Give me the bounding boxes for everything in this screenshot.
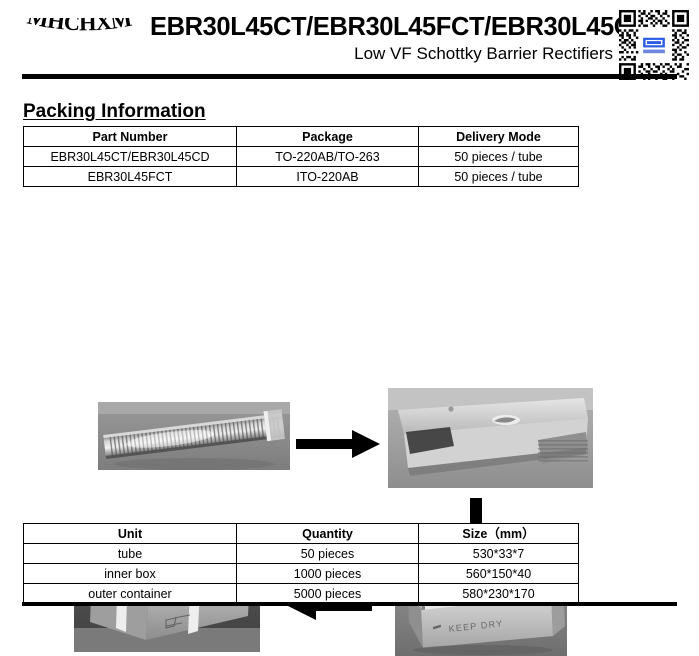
photo-tube-of-rectifiers: [98, 402, 290, 470]
logo-text: MHCHXM: [25, 18, 133, 35]
packing-information-table: Part Number Package Delivery Mode EBR30L…: [23, 126, 579, 187]
page-subtitle: Low VF Schottky Barrier Rectifiers: [150, 42, 615, 66]
cell-delivery-mode: 50 pieces / tube: [419, 147, 579, 167]
column-header-delivery-mode: Delivery Mode: [419, 127, 579, 147]
header-divider: [22, 74, 677, 79]
column-header-package: Package: [237, 127, 419, 147]
qr-center-logo: [643, 38, 665, 53]
cell-package: ITO-220AB: [237, 167, 419, 187]
company-logo: MHCHXM: [22, 18, 147, 62]
title-block: EBR30L45CT/EBR30L45FCT/EBR30L45CD Low VF…: [150, 12, 615, 66]
cell-part-number: EBR30L45CT/EBR30L45CD: [24, 147, 237, 167]
page-header: MHCHXM MHCHXM EBR30L45CT/EBR30L45FCT/EBR…: [0, 0, 699, 80]
cell-quantity: 1000 pieces: [237, 564, 419, 584]
table-row: EBR30L45CT/EBR30L45CD TO-220AB/TO-263 50…: [24, 147, 579, 167]
packing-flow-diagram: KEEP DRY: [0, 190, 699, 490]
footer-divider: [22, 602, 677, 606]
cell-part-number: EBR30L45FCT: [24, 167, 237, 187]
cell-package: TO-220AB/TO-263: [237, 147, 419, 167]
photo-inner-box-with-tubes: [388, 388, 593, 488]
table-row: outer container 5000 pieces 580*230*170: [24, 584, 579, 604]
arrow-right-icon: [294, 426, 382, 462]
cell-quantity: 50 pieces: [237, 544, 419, 564]
table-row: EBR30L45FCT ITO-220AB 50 pieces / tube: [24, 167, 579, 187]
table-row: inner box 1000 pieces 560*150*40: [24, 564, 579, 584]
cell-delivery-mode: 50 pieces / tube: [419, 167, 579, 187]
column-header-size: Size（mm）: [419, 524, 579, 544]
cell-unit: tube: [24, 544, 237, 564]
cell-unit: outer container: [24, 584, 237, 604]
cell-size: 580*230*170: [419, 584, 579, 604]
packing-information-heading: Packing Information: [23, 101, 206, 123]
cell-quantity: 5000 pieces: [237, 584, 419, 604]
table-header-row: Unit Quantity Size（mm）: [24, 524, 579, 544]
page-title: EBR30L45CT/EBR30L45FCT/EBR30L45CD: [150, 12, 615, 42]
unit-quantity-size-table: Unit Quantity Size（mm） tube 50 pieces 53…: [23, 523, 579, 604]
cell-size: 530*33*7: [419, 544, 579, 564]
cell-unit: inner box: [24, 564, 237, 584]
table-header-row: Part Number Package Delivery Mode: [24, 127, 579, 147]
cell-size: 560*150*40: [419, 564, 579, 584]
column-header-part-number: Part Number: [24, 127, 237, 147]
table-row: tube 50 pieces 530*33*7: [24, 544, 579, 564]
qr-code-icon: [619, 10, 689, 80]
column-header-unit: Unit: [24, 524, 237, 544]
column-header-quantity: Quantity: [237, 524, 419, 544]
